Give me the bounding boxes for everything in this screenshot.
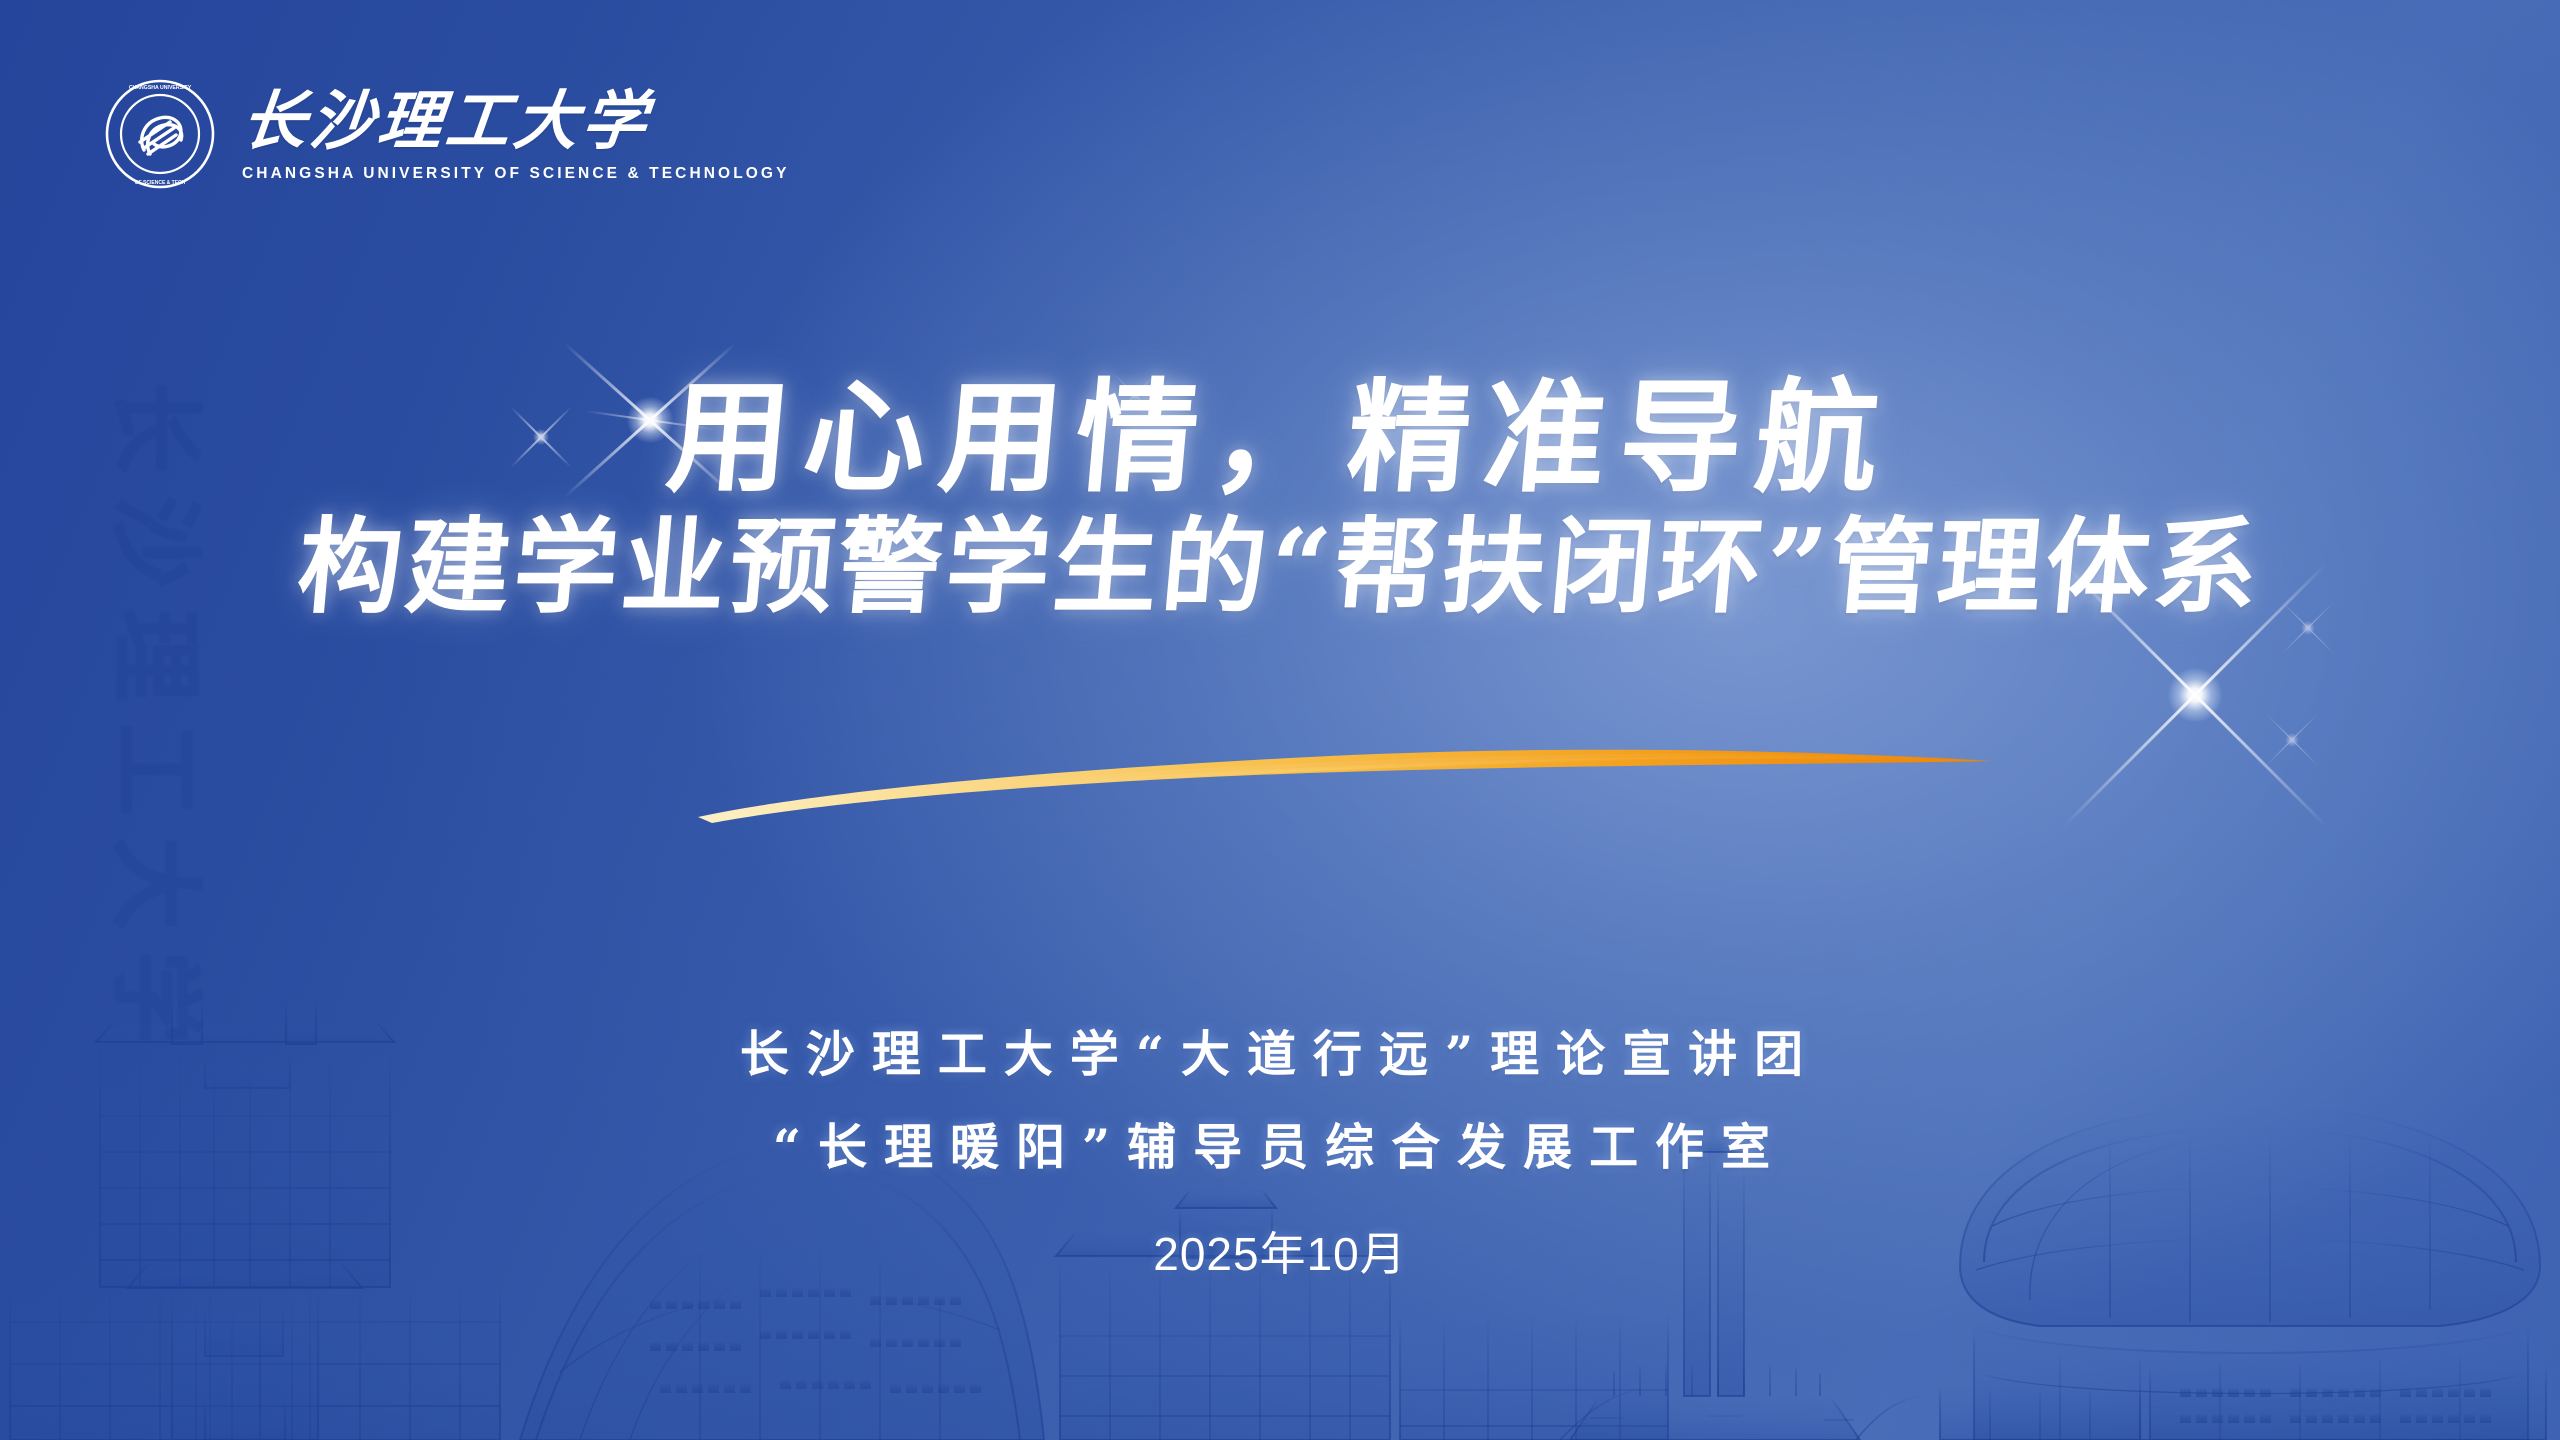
sparkle-small-right-b-icon: [2252, 700, 2332, 780]
footer-line-1: 长沙理工大学“大道行远”理论宣讲团: [0, 1030, 2560, 1079]
footer-date: 2025年10月: [0, 1218, 2560, 1284]
gold-brush-underline-icon: [690, 735, 2000, 827]
title-line-2: 构建学业预警学生的“帮扶闭环”管理体系: [0, 510, 2560, 624]
svg-text:OF SCIENCE & TECH: OF SCIENCE & TECH: [135, 180, 186, 186]
university-seal-icon: CHANGSHA UNIVERSITY OF SCIENCE & TECH: [104, 78, 216, 190]
footer-line-2: “长理暖阳”辅导员综合发展工作室: [0, 1123, 2560, 1172]
presentation-title-slide: 长沙理工大学 CHANGSHA UNIVERSITY OF SCIENCE & …: [0, 0, 2560, 1440]
slide-title: 用心用情，精准导航 构建学业预警学生的“帮扶闭环”管理体系: [0, 372, 2560, 624]
slide-footer: 长沙理工大学“大道行远”理论宣讲团 “长理暖阳”辅导员综合发展工作室 2025年…: [0, 1030, 2560, 1284]
logo-name-cn: 长沙理工大学: [239, 90, 793, 154]
university-logo: CHANGSHA UNIVERSITY OF SCIENCE & TECH 长沙…: [104, 78, 790, 190]
logo-name-en: CHANGSHA UNIVERSITY OF SCIENCE & TECHNOL…: [242, 165, 790, 183]
title-line-1: 用心用情，精准导航: [0, 372, 2560, 504]
svg-text:CHANGSHA UNIVERSITY: CHANGSHA UNIVERSITY: [129, 85, 192, 91]
